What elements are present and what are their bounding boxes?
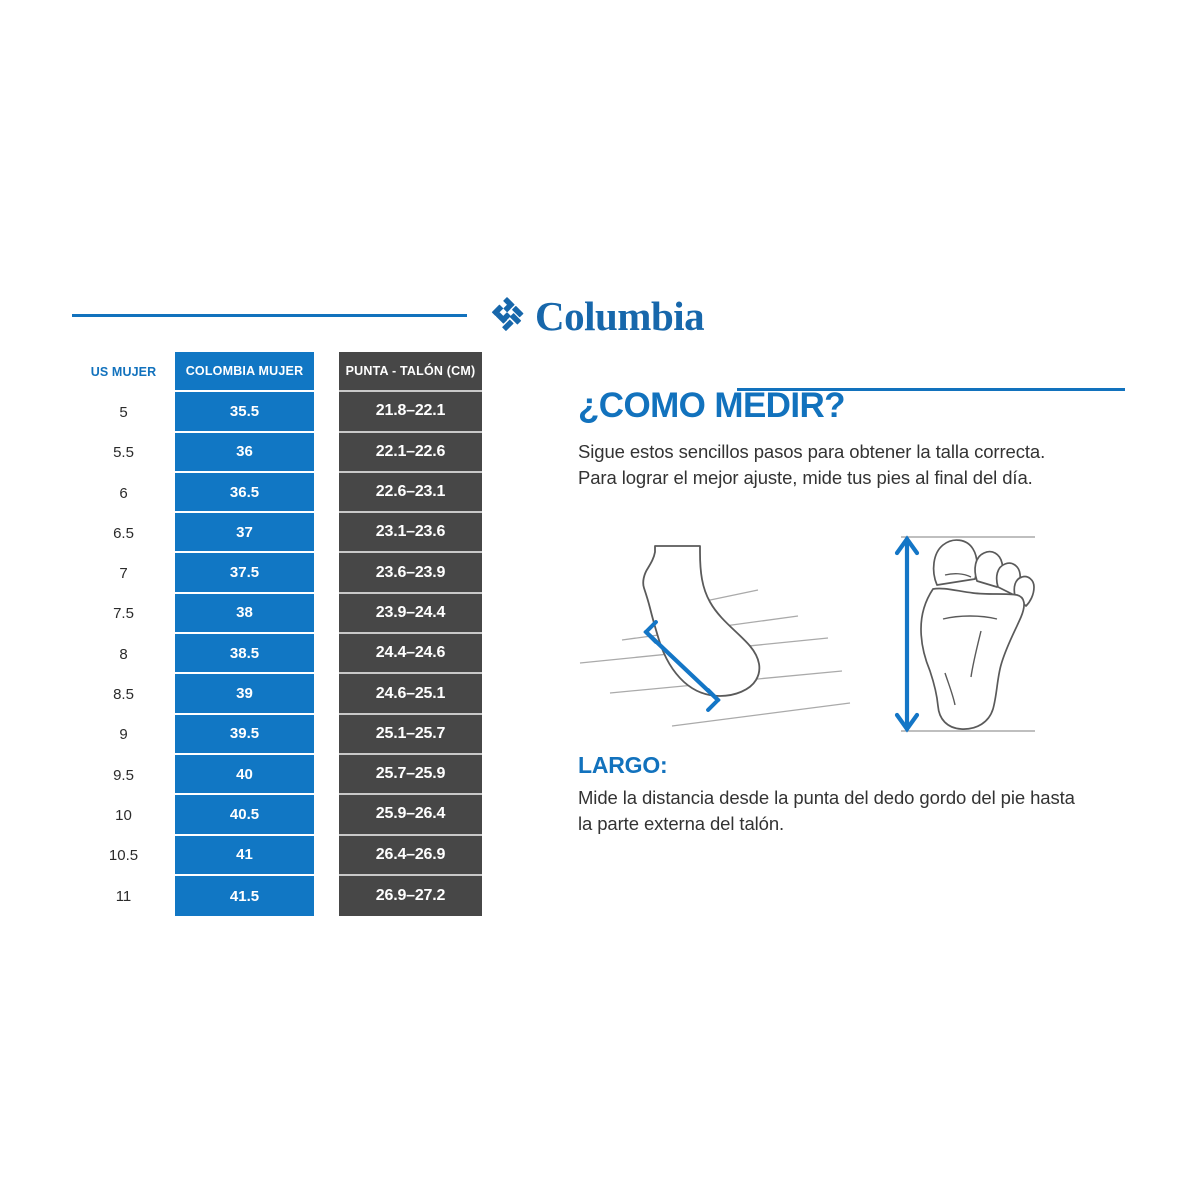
cell-us: 7.5 [72,594,175,634]
cell-cm: 26.4–26.9 [339,836,482,876]
header-punta-talon: PUNTA - TALÓN (CM) [339,352,482,392]
how-to-measure-body: Sigue estos sencillos pasos para obtener… [578,439,1078,492]
table-row: 9.5 40 25.7–25.9 [72,755,482,795]
cell-cm: 22.1–22.6 [339,433,482,473]
cell-us: 6.5 [72,513,175,553]
table-row: 9 39.5 25.1–25.7 [72,715,482,755]
cell-us: 5.5 [72,433,175,473]
table-row: 8.5 39 24.6–25.1 [72,674,482,714]
table-row: 5 35.5 21.8–22.1 [72,392,482,432]
cell-colombia: 39.5 [175,715,314,755]
cell-colombia: 38 [175,594,314,634]
header-rule-left [72,314,467,317]
cell-cm: 24.6–25.1 [339,674,482,714]
largo-body: Mide la distancia desde la punta del ded… [578,785,1078,838]
cell-us: 6 [72,473,175,513]
largo-section: LARGO: Mide la distancia desde la punta … [578,752,1078,838]
cell-us: 10.5 [72,836,175,876]
measurement-diagrams [560,528,1060,743]
cell-cm: 23.6–23.9 [339,553,482,593]
cell-us: 11 [72,876,175,916]
columbia-wordmark: Columbia [535,296,704,337]
cell-colombia: 37 [175,513,314,553]
cell-colombia: 36 [175,433,314,473]
header-us-mujer: US MUJER [72,352,175,392]
cell-colombia: 41.5 [175,876,314,916]
cell-cm: 22.6–23.1 [339,473,482,513]
cell-colombia: 36.5 [175,473,314,513]
cell-cm: 25.1–25.7 [339,715,482,755]
how-to-measure-section: ¿COMO MEDIR? Sigue estos sencillos pasos… [578,388,1078,491]
columbia-diamond-logo-icon [486,296,528,336]
cell-us: 9.5 [72,755,175,795]
cell-colombia: 38.5 [175,634,314,674]
table-row: 8 38.5 24.4–24.6 [72,634,482,674]
foot-sole-view-icon [885,523,1060,748]
cell-colombia: 41 [175,836,314,876]
cell-colombia: 40 [175,755,314,795]
cell-us: 8 [72,634,175,674]
table-header-row: US MUJER COLOMBIA MUJER PUNTA - TALÓN (C… [72,352,482,392]
cell-cm: 26.9–27.2 [339,876,482,916]
cell-cm: 24.4–24.6 [339,634,482,674]
table-row: 11 41.5 26.9–27.2 [72,876,482,916]
cell-us: 10 [72,795,175,835]
size-table: US MUJER COLOMBIA MUJER PUNTA - TALÓN (C… [72,352,482,916]
table-row: 10 40.5 25.9–26.4 [72,795,482,835]
cell-us: 9 [72,715,175,755]
table-row: 7 37.5 23.6–23.9 [72,553,482,593]
sock-side-view-icon [560,528,860,743]
cell-us: 7 [72,553,175,593]
table-row: 6 36.5 22.6–23.1 [72,473,482,513]
cell-cm: 21.8–22.1 [339,392,482,432]
how-to-measure-title: ¿COMO MEDIR? [578,388,1078,425]
header-colombia-mujer: COLOMBIA MUJER [175,352,314,392]
cell-colombia: 39 [175,674,314,714]
largo-title: LARGO: [578,752,1078,779]
cell-colombia: 40.5 [175,795,314,835]
table-row: 10.5 41 26.4–26.9 [72,836,482,876]
cell-colombia: 37.5 [175,553,314,593]
cell-cm: 23.1–23.6 [339,513,482,553]
size-chart-page: Columbia US MUJER COLOMBIA MUJER PUNTA -… [0,0,1200,1200]
cell-colombia: 35.5 [175,392,314,432]
table-row: 6.5 37 23.1–23.6 [72,513,482,553]
cell-us: 5 [72,392,175,432]
table-row: 7.5 38 23.9–24.4 [72,594,482,634]
columbia-logo: Columbia [486,293,714,339]
cell-cm: 25.9–26.4 [339,795,482,835]
table-row: 5.5 36 22.1–22.6 [72,433,482,473]
cell-us: 8.5 [72,674,175,714]
cell-cm: 25.7–25.9 [339,755,482,795]
cell-cm: 23.9–24.4 [339,594,482,634]
